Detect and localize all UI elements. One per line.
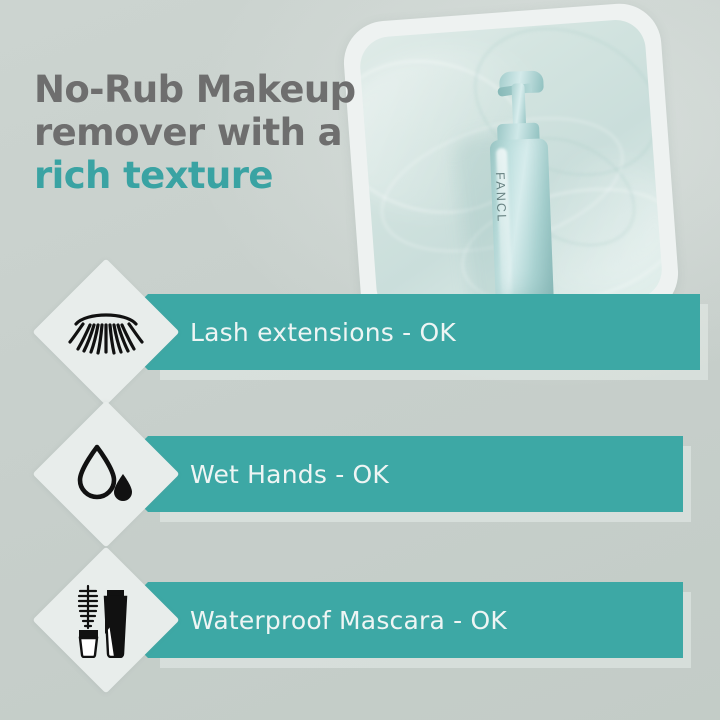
photo-water-background: FANCL <box>358 18 664 318</box>
infographic-canvas: No-Rub Makeup remover with a rich textur… <box>0 0 720 720</box>
icon-diamond <box>32 400 179 547</box>
icon-diamond <box>32 546 179 693</box>
headline-line-2: remover with a <box>34 111 394 154</box>
water-droplet-icon <box>54 422 158 526</box>
headline-line-1: No-Rub Makeup <box>34 68 394 111</box>
product-bottle: FANCL <box>473 66 568 309</box>
mascara-icon <box>54 568 158 672</box>
headline-line-3-accent: rich texture <box>34 154 394 197</box>
feature-label: Wet Hands - OK <box>190 436 389 512</box>
bottle-brand-label: FANCL <box>493 172 509 224</box>
icon-diamond <box>32 258 179 405</box>
eyelash-icon <box>54 280 158 384</box>
feature-label: Lash extensions - OK <box>190 294 456 370</box>
headline: No-Rub Makeup remover with a rich textur… <box>34 68 394 197</box>
feature-label: Waterproof Mascara - OK <box>190 582 507 658</box>
